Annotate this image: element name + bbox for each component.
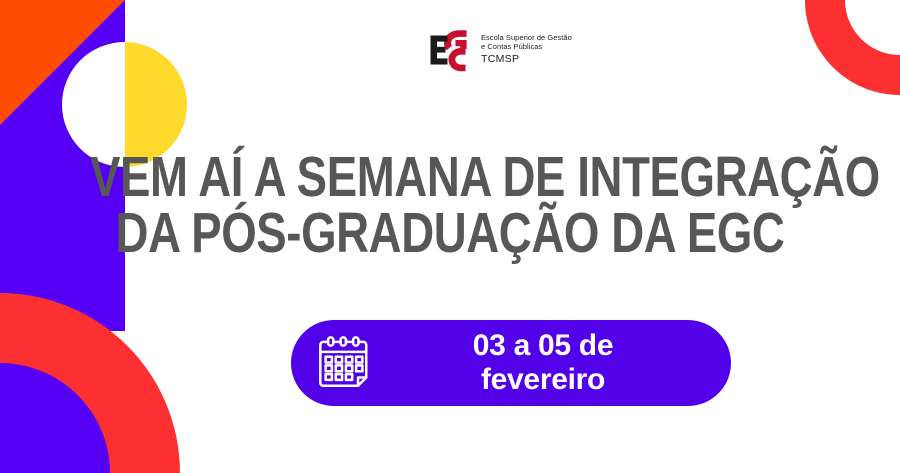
headline-line-1: VEM AÍ A SEMANA DE INTEGRAÇÃO — [90, 150, 810, 206]
promo-banner: Escola Superior de Gestão e Contas Públi… — [0, 0, 900, 473]
egc-logo: Escola Superior de Gestão e Contas Públi… — [428, 28, 572, 72]
date-line-2: fevereiro — [373, 363, 713, 397]
date-pill[interactable]: 03 a 05 de fevereiro — [291, 320, 731, 406]
headline-line-2: DA PÓS-GRADUAÇÃO DA EGC — [90, 206, 810, 262]
date-line-1: 03 a 05 de — [373, 329, 713, 363]
logo-acronym: TCMSP — [481, 53, 572, 65]
date-text: 03 a 05 de fevereiro — [373, 329, 731, 396]
logo-line-2: e Contas Públicas — [481, 43, 572, 52]
logo-wordmark: Escola Superior de Gestão e Contas Públi… — [481, 34, 572, 65]
calendar-icon — [315, 334, 373, 392]
headline: VEM AÍ A SEMANA DE INTEGRAÇÃO DA PÓS-GRA… — [90, 150, 810, 262]
egc-monogram-icon — [428, 28, 474, 72]
